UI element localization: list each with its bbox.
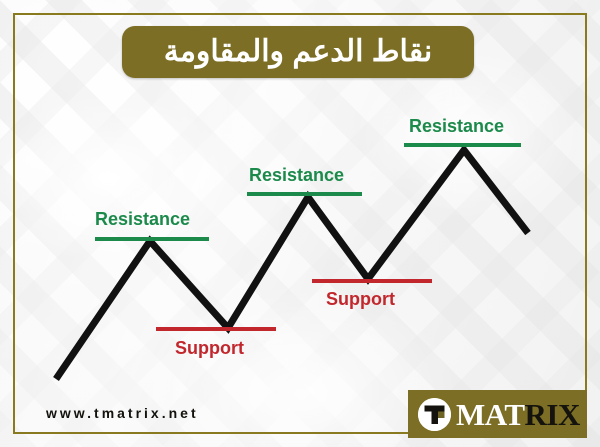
support-label: Support	[175, 339, 244, 357]
site-url[interactable]: www.tmatrix.net	[46, 405, 199, 421]
tmatrix-wordmark: MATRIX	[456, 399, 580, 430]
logo-text-light: MAT	[456, 397, 525, 432]
resistance-label: Resistance	[95, 210, 190, 228]
tmatrix-t-icon	[418, 398, 451, 431]
support-label: Support	[326, 290, 395, 308]
resistance-label: Resistance	[409, 117, 504, 135]
tmatrix-logo-badge[interactable]: MATRIX	[408, 390, 587, 438]
infographic-canvas: نقاط الدعم والمقاومة ResistanceSupportRe…	[0, 0, 600, 447]
logo-text-dark: RIX	[525, 397, 580, 432]
resistance-label: Resistance	[249, 166, 344, 184]
support-resistance-chart	[0, 0, 600, 447]
